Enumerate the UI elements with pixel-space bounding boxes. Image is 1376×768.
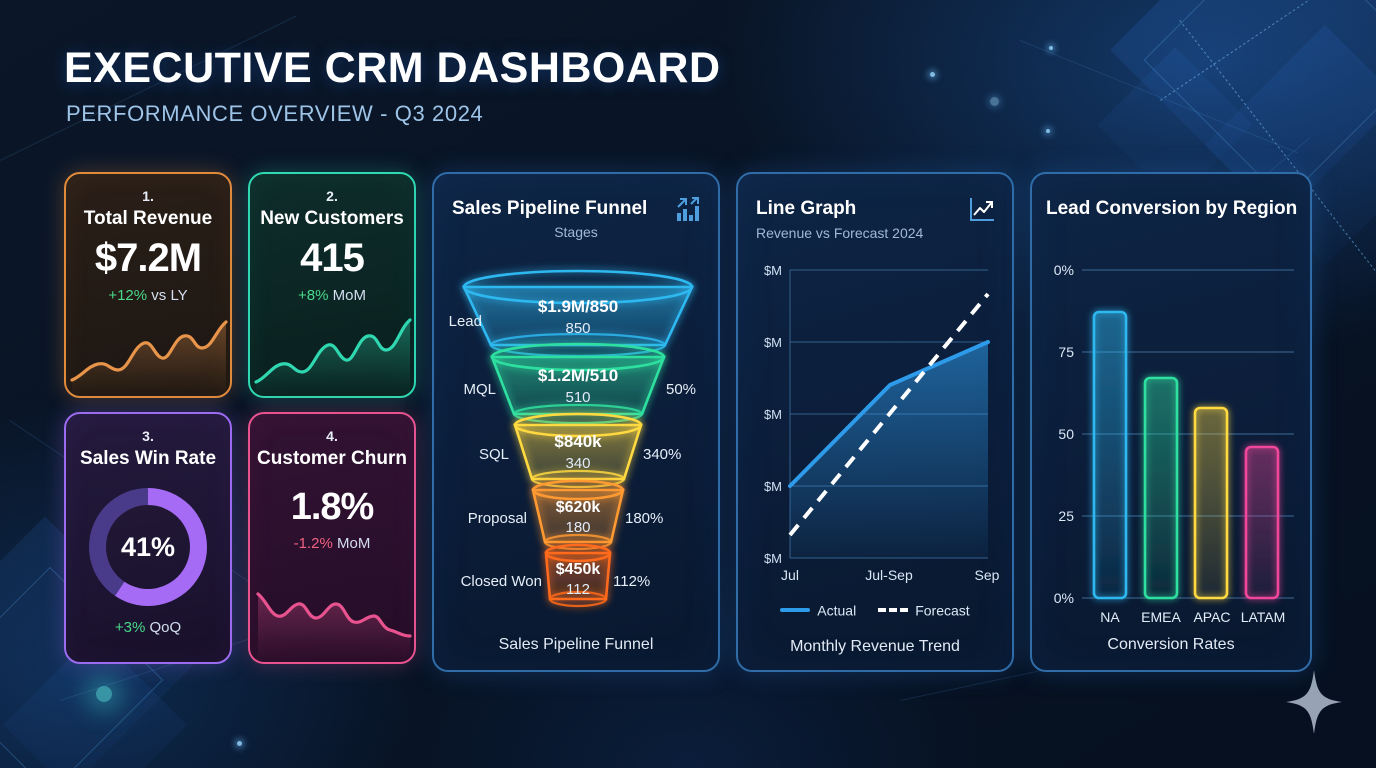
kpi-delta-suffix: MoM: [333, 535, 371, 552]
line-caption: Monthly Revenue Trend: [738, 638, 1012, 656]
kpi-delta-value: -1.2%: [294, 535, 333, 552]
kpi-name: Sales Win Rate: [66, 448, 230, 470]
funnel-stage-value: $840k: [554, 432, 602, 451]
panel-line-graph[interactable]: Line Graph Revenue vs Forecast 2024: [736, 172, 1014, 672]
funnel-stage-value: $450k: [556, 561, 601, 578]
kpi-value: 1.8%: [250, 486, 414, 529]
funnel-chart: $1.9M/850 850 $1.2M/510 510 $840k 340 $6…: [434, 174, 722, 674]
funnel-stage-pct: 112%: [613, 573, 650, 590]
line-chart: $M $M $M $M $M Jul Jul-Sep Sep: [738, 174, 1016, 674]
funnel-stage-label: Proposal: [468, 510, 527, 527]
funnel-stage-pct: 180%: [625, 510, 663, 527]
bar-caption: Conversion Rates: [1032, 636, 1310, 654]
kpi-value: 415: [250, 236, 414, 281]
kpi-name: Total Revenue: [66, 208, 230, 230]
funnel-stage-value: $1.2M/510: [538, 366, 618, 385]
kpi-delta-value: +12%: [108, 287, 147, 304]
kpi-name: Customer Churn: [250, 448, 414, 470]
kpi-delta: +8% MoM: [250, 287, 414, 304]
funnel-stage-label: SQL: [479, 446, 509, 463]
line-ytick: $M: [764, 551, 782, 566]
sparkline-total-revenue: [66, 304, 232, 396]
bar-ytick: 25: [1058, 508, 1074, 524]
sparkline-customer-churn: [250, 570, 416, 662]
kpi-index: 3.: [66, 428, 230, 444]
funnel-stage-pct: 50%: [666, 381, 696, 398]
kpi-card-new-customers[interactable]: 2. New Customers 415 +8% MoM: [248, 172, 416, 398]
bar-ytick: 75: [1058, 344, 1074, 360]
line-ytick: $M: [764, 407, 782, 422]
line-ytick: $M: [764, 263, 782, 278]
bar-xtick: EMEA: [1141, 609, 1181, 625]
funnel-stage-count: 510: [565, 389, 590, 406]
kpi-delta-value: +8%: [298, 287, 328, 304]
line-legend: Actual Forecast: [738, 601, 1012, 618]
funnel-stage-count: 340: [565, 455, 590, 472]
line-xtick: Jul-Sep: [865, 567, 913, 583]
line-ytick: $M: [764, 335, 782, 350]
bar-ytick: 50: [1058, 426, 1074, 442]
sparkline-new-customers: [250, 304, 416, 396]
page-subtitle: PERFORMANCE OVERVIEW - Q3 2024: [66, 101, 483, 127]
funnel-stage-count: 180: [565, 519, 590, 536]
kpi-index: 4.: [250, 428, 414, 444]
legend-label: Actual: [817, 602, 856, 618]
line-xtick: Jul: [781, 567, 799, 583]
legend-label: Forecast: [915, 602, 969, 618]
kpi-index: 1.: [66, 188, 230, 204]
legend-item-forecast: Forecast: [878, 601, 969, 618]
kpi-card-customer-churn[interactable]: 4. Customer Churn 1.8% -1.2% MoM: [248, 412, 416, 664]
funnel-stage-count: 112: [566, 581, 590, 598]
kpi-value: $7.2M: [66, 236, 230, 281]
funnel-stage-label: MQL: [463, 381, 496, 398]
panel-sales-pipeline-funnel[interactable]: Sales Pipeline Funnel Stages: [432, 172, 720, 672]
funnel-stage-label: Lead: [449, 313, 482, 330]
bar-ytick: 0%: [1054, 262, 1074, 278]
legend-swatch-dashed: [878, 608, 908, 612]
bar-ytick: 0%: [1054, 590, 1074, 606]
kpi-name: New Customers: [250, 208, 414, 230]
line-xtick: Sep: [975, 567, 1000, 583]
legend-item-actual: Actual: [780, 601, 856, 618]
funnel-stage-pct: 340%: [643, 446, 681, 463]
kpi-delta-suffix: QoQ: [145, 619, 181, 636]
line-ytick: $M: [764, 479, 782, 494]
funnel-stage-label: Closed Won: [461, 573, 542, 590]
kpi-delta-value: +3%: [115, 619, 145, 636]
panel-lead-conversion[interactable]: Lead Conversion by Region: [1030, 172, 1312, 672]
bar-xtick: NA: [1100, 609, 1120, 625]
kpi-delta-suffix: MoM: [328, 287, 366, 304]
legend-swatch-solid: [780, 608, 810, 612]
kpi-delta-suffix: vs LY: [147, 287, 188, 304]
funnel-stage-value: $620k: [556, 499, 601, 516]
kpi-delta: +12% vs LY: [66, 287, 230, 304]
funnel-caption: Sales Pipeline Funnel: [434, 636, 718, 654]
win-rate-gauge: 41%: [89, 488, 207, 606]
kpi-index: 2.: [250, 188, 414, 204]
bar-xtick: LATAM: [1241, 609, 1286, 625]
kpi-card-total-revenue[interactable]: 1. Total Revenue $7.2M +12% vs LY: [64, 172, 232, 398]
bar-chart: 0% 75 50 25 0% NA EMEA APAC LATAM: [1032, 174, 1314, 674]
gauge-value: 41%: [89, 488, 207, 606]
kpi-delta: +3% QoQ: [66, 619, 230, 636]
funnel-stage-count: 850: [565, 320, 590, 337]
kpi-delta: -1.2% MoM: [250, 535, 414, 552]
page-title: EXECUTIVE CRM DASHBOARD: [64, 44, 721, 93]
funnel-stage-value: $1.9M/850: [538, 297, 618, 316]
kpi-card-sales-win-rate[interactable]: 3. Sales Win Rate 41% +3% QoQ: [64, 412, 232, 664]
bar-xtick: APAC: [1193, 609, 1230, 625]
